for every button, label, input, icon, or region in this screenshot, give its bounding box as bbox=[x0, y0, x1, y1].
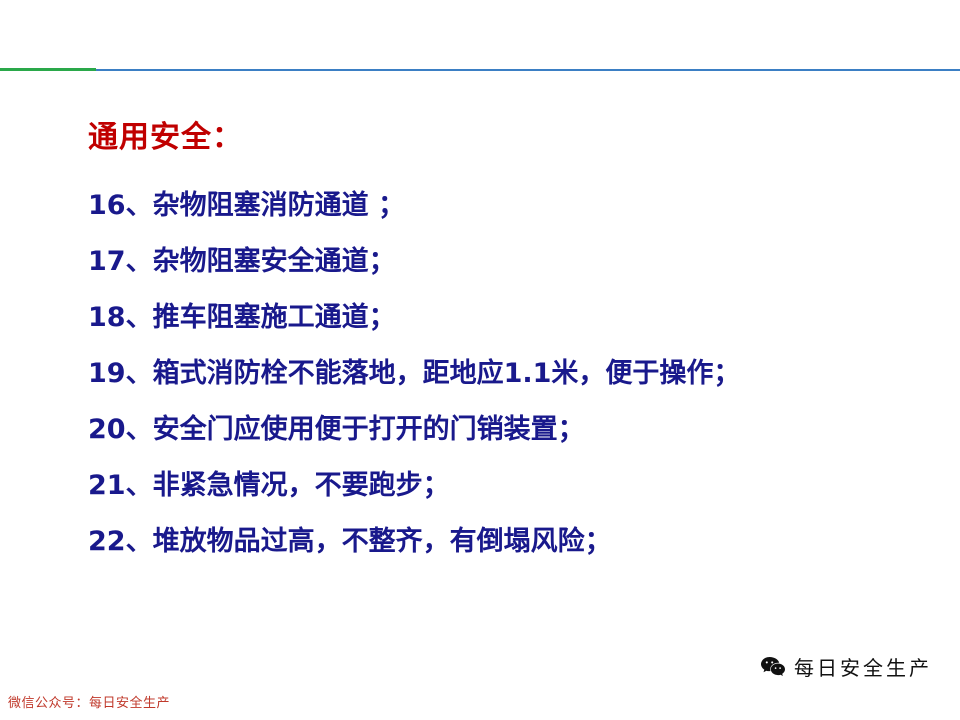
watermark-text: 微信公众号：每日安全生产 bbox=[8, 692, 170, 711]
page-title: 通用安全： bbox=[88, 112, 243, 156]
list-item: 20、安全门应使用便于打开的门销装置； bbox=[88, 402, 908, 458]
list-item: 21、非紧急情况，不要跑步； bbox=[88, 458, 908, 514]
account-badge: 每日安全生产 bbox=[760, 652, 932, 681]
list-item: 18、推车阻塞施工通道； bbox=[88, 290, 908, 346]
header-divider bbox=[0, 68, 960, 72]
list-item: 22、堆放物品过高，不整齐，有倒塌风险； bbox=[88, 514, 908, 570]
content-list: 16、杂物阻塞消防通道 ； 17、杂物阻塞安全通道； 18、推车阻塞施工通道； … bbox=[88, 178, 908, 570]
slide-canvas: 通用安全： 16、杂物阻塞消防通道 ； 17、杂物阻塞安全通道； 18、推车阻塞… bbox=[0, 0, 960, 720]
wechat-icon bbox=[760, 656, 786, 678]
list-item: 17、杂物阻塞安全通道； bbox=[88, 234, 908, 290]
list-item: 19、箱式消防栓不能落地，距地应1.1米，便于操作； bbox=[88, 346, 908, 402]
list-item: 16、杂物阻塞消防通道 ； bbox=[88, 178, 908, 234]
divider-green-segment bbox=[0, 68, 96, 71]
account-name: 每日安全生产 bbox=[794, 652, 932, 681]
divider-blue-segment bbox=[96, 69, 960, 71]
